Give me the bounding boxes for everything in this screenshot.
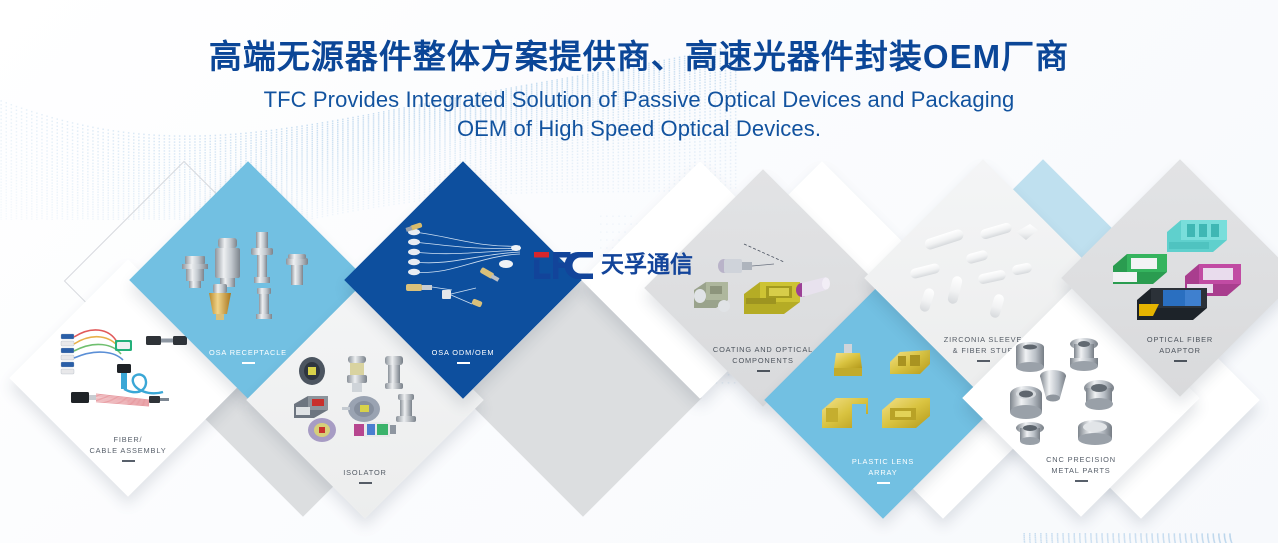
zirconia-sleeve-fiber-stub-product-image bbox=[908, 216, 1058, 326]
product-tile-label-line2: METAL PARTS bbox=[986, 465, 1176, 476]
caption-underline bbox=[1075, 480, 1088, 482]
product-tile-label-line1: FIBER/ bbox=[33, 434, 223, 445]
product-tile-inner: OPTICAL FIBERADAPTOR bbox=[1096, 194, 1264, 362]
product-tile-caption: ISOLATOR bbox=[270, 467, 460, 484]
tfc-logo-chinese: 天孚通信 bbox=[601, 252, 693, 279]
product-tile-caption: CNC PRECISIONMETAL PARTS bbox=[986, 454, 1176, 482]
caption-underline bbox=[359, 482, 372, 484]
headline-chinese: 高端无源器件整体方案提供商、高速光器件封装OEM厂商 bbox=[0, 38, 1278, 76]
caption-underline bbox=[457, 362, 470, 364]
headline-english-line1: TFC Provides Integrated Solution of Pass… bbox=[0, 86, 1278, 115]
product-tile-label-line1: PLASTIC LENS bbox=[788, 456, 978, 467]
tfc-logo: 天孚通信 bbox=[534, 252, 693, 279]
product-tile-caption: FIBER/CABLE ASSEMBLY bbox=[33, 434, 223, 462]
product-tile-label-line2: CABLE ASSEMBLY bbox=[33, 445, 223, 456]
banner-stage: 高端无源器件整体方案提供商、高速光器件封装OEM厂商 TFC Provides … bbox=[0, 0, 1278, 543]
product-tile-label-line2: ADAPTOR bbox=[1085, 345, 1275, 356]
product-tile-label-line1: OSA ODM/OEM bbox=[368, 347, 558, 358]
product-tile-label-line1: OPTICAL FIBER bbox=[1085, 334, 1275, 345]
osa-receptacle-product-image bbox=[173, 218, 323, 328]
product-tile-caption: OPTICAL FIBERADAPTOR bbox=[1085, 334, 1275, 362]
tfc-wordmark-icon bbox=[534, 252, 594, 279]
caption-underline bbox=[122, 460, 135, 462]
product-tile-label-line2: ARRAY bbox=[788, 467, 978, 478]
optical-fiber-adaptor-product-image bbox=[1105, 216, 1255, 326]
product-tile-inner: OSA ODM/OEM bbox=[379, 196, 547, 364]
osa-odm-oem-product-image bbox=[388, 218, 538, 328]
caption-underline bbox=[757, 370, 770, 372]
caption-underline bbox=[242, 362, 255, 364]
product-tile-caption: PLASTIC LENSARRAY bbox=[788, 456, 978, 484]
product-tile-osa-odm-oem[interactable]: OSA ODM/OEM bbox=[344, 161, 582, 399]
headline-english: TFC Provides Integrated Solution of Pass… bbox=[0, 86, 1278, 143]
product-tile-label-line1: ISOLATOR bbox=[270, 467, 460, 478]
product-diamond-mosaic: FIBER/CABLE ASSEMBLY bbox=[0, 160, 1278, 543]
headline-block: 高端无源器件整体方案提供商、高速光器件封装OEM厂商 TFC Provides … bbox=[0, 38, 1278, 143]
product-tile-optical-fiber-adaptor[interactable]: OPTICAL FIBERADAPTOR bbox=[1061, 159, 1278, 397]
caption-underline bbox=[977, 360, 990, 362]
headline-english-line2: OEM of High Speed Optical Devices. bbox=[0, 115, 1278, 144]
product-tile-caption: OSA ODM/OEM bbox=[368, 347, 558, 364]
product-tile-label-line1: CNC PRECISION bbox=[986, 454, 1176, 465]
caption-underline bbox=[877, 482, 890, 484]
caption-underline bbox=[1174, 360, 1187, 362]
